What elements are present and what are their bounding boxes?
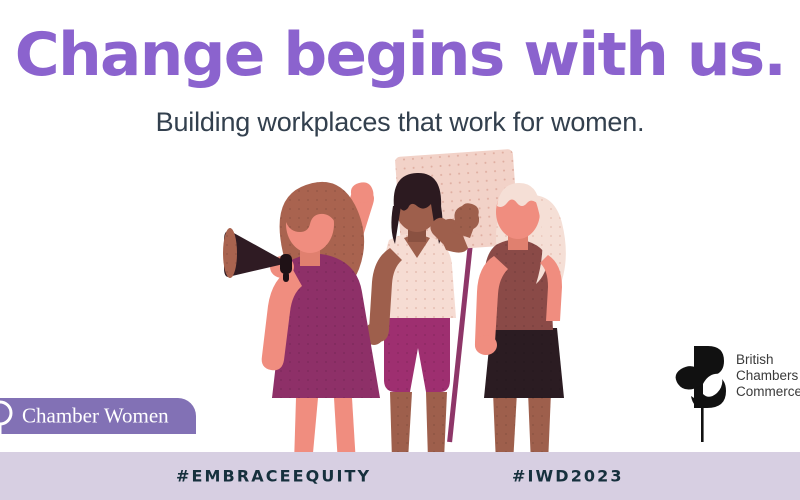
venus-female-symbol-icon xyxy=(0,399,24,435)
bcc-logo-line-3: Commerce xyxy=(736,384,800,400)
figure-woman-with-megaphone xyxy=(223,182,380,464)
bcc-logo-line-2: Chambers of xyxy=(736,368,800,384)
bcc-logo-line-1: British xyxy=(736,352,800,368)
bcc-leaf-b-mark-icon xyxy=(672,338,734,442)
page-subtitle: Building workplaces that work for women. xyxy=(0,106,800,138)
chamber-women-badge-label: Chamber Women xyxy=(22,404,169,429)
hashtag-iwd2023: #IWD2023 xyxy=(512,467,624,486)
hashtag-embraceequity: #EMBRACEEQUITY xyxy=(176,467,371,486)
chamber-women-badge[interactable]: Chamber Women xyxy=(0,398,196,434)
british-chambers-of-commerce-logo: British Chambers of Commerce xyxy=(672,338,800,446)
hashtag-bar: #EMBRACEEQUITY #IWD2023 xyxy=(0,452,800,500)
bcc-logo-text: British Chambers of Commerce xyxy=(736,352,800,400)
iwd-2023-poster: Change begins with us. Building workplac… xyxy=(0,0,800,500)
page-title: Change begins with us. xyxy=(0,22,800,88)
